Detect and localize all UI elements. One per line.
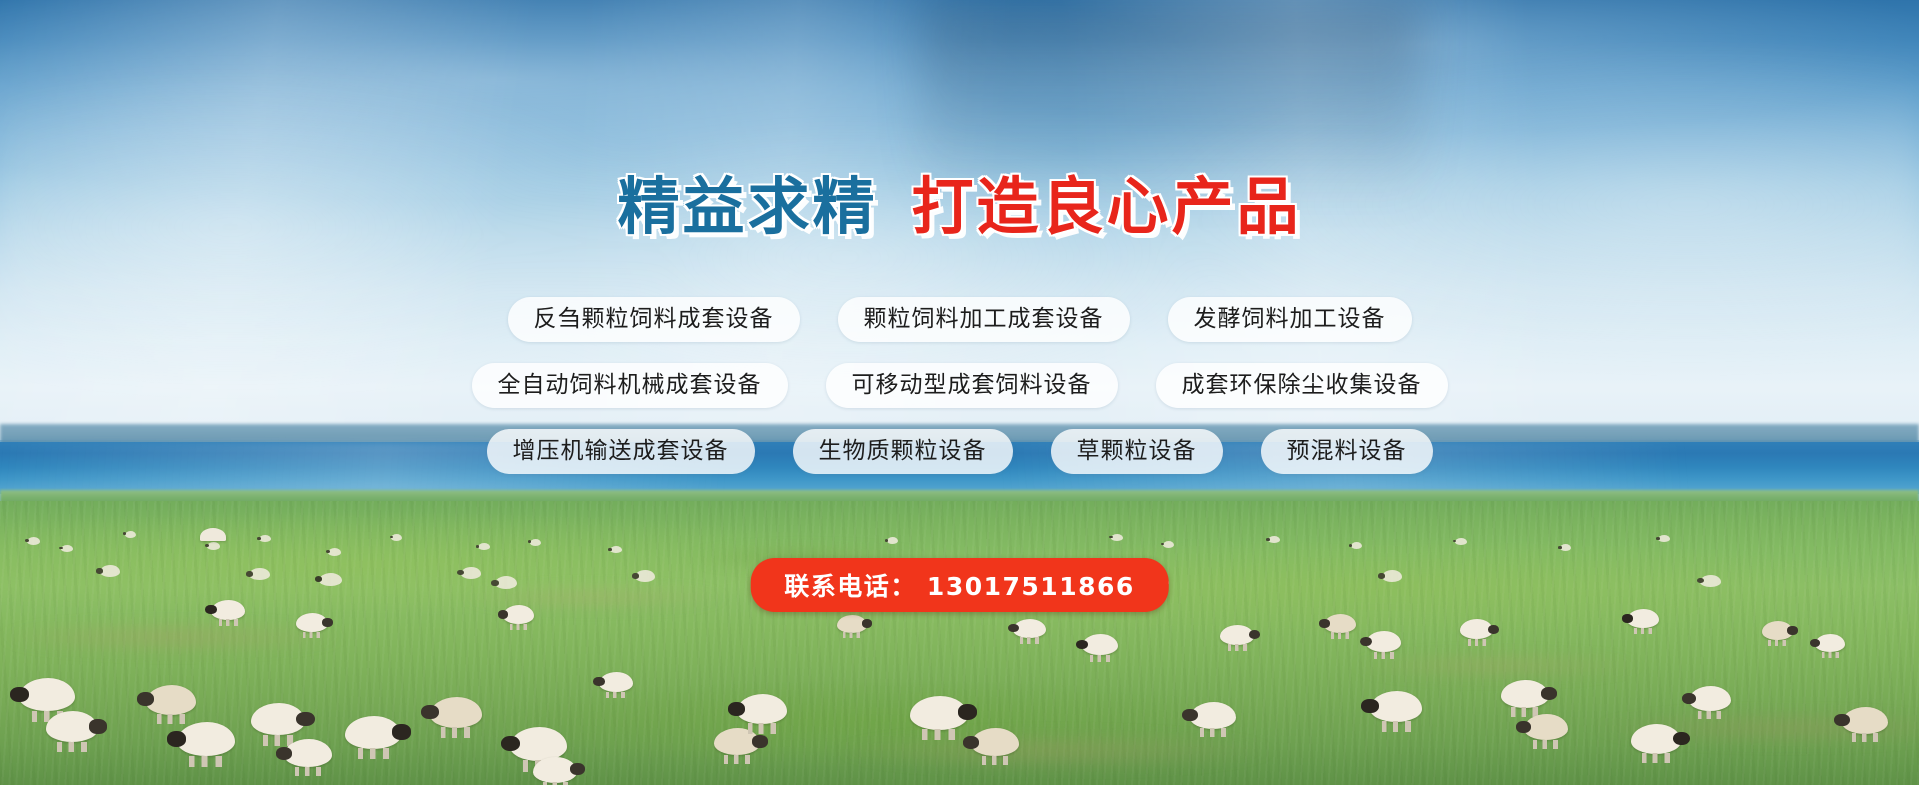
product-pill[interactable]: 颗粒饲料加工成套设备 [838, 297, 1130, 342]
headline: 精益求精打造良心产品 [617, 176, 1301, 238]
product-pill[interactable]: 增压机输送成套设备 [487, 429, 755, 474]
banner-content: 精益求精打造良心产品 反刍颗粒饲料成套设备 颗粒饲料加工成套设备 发酵饲料加工设… [0, 0, 1919, 785]
contact-phone-banner[interactable]: 联系电话： 13017511866 [750, 558, 1169, 612]
contact-phone-text: 联系电话： 13017511866 [784, 572, 1135, 601]
product-pill[interactable]: 全自动饲料机械成套设备 [472, 363, 788, 408]
product-pill[interactable]: 生物质颗粒设备 [793, 429, 1013, 474]
product-row-3: 增压机输送成套设备 生物质颗粒设备 草颗粒设备 预混料设备 [430, 429, 1490, 474]
promo-banner: 精益求精打造良心产品 反刍颗粒饲料成套设备 颗粒饲料加工成套设备 发酵饲料加工设… [0, 0, 1919, 785]
product-pill[interactable]: 可移动型成套饲料设备 [826, 363, 1118, 408]
product-pill[interactable]: 发酵饲料加工设备 [1168, 297, 1412, 342]
product-pill[interactable]: 预混料设备 [1261, 429, 1433, 474]
product-pill[interactable]: 草颗粒设备 [1051, 429, 1223, 474]
product-pill[interactable]: 反刍颗粒饲料成套设备 [508, 297, 800, 342]
headline-blue-segment: 精益求精 [617, 170, 877, 243]
product-pill[interactable]: 成套环保除尘收集设备 [1156, 363, 1448, 408]
headline-red-segment: 打造良心产品 [912, 170, 1302, 243]
product-row-1: 反刍颗粒饲料成套设备 颗粒饲料加工成套设备 发酵饲料加工设备 [430, 297, 1490, 342]
product-row-2: 全自动饲料机械成套设备 可移动型成套饲料设备 成套环保除尘收集设备 [430, 363, 1490, 408]
product-category-list: 反刍颗粒饲料成套设备 颗粒饲料加工成套设备 发酵饲料加工设备 全自动饲料机械成套… [430, 297, 1490, 495]
